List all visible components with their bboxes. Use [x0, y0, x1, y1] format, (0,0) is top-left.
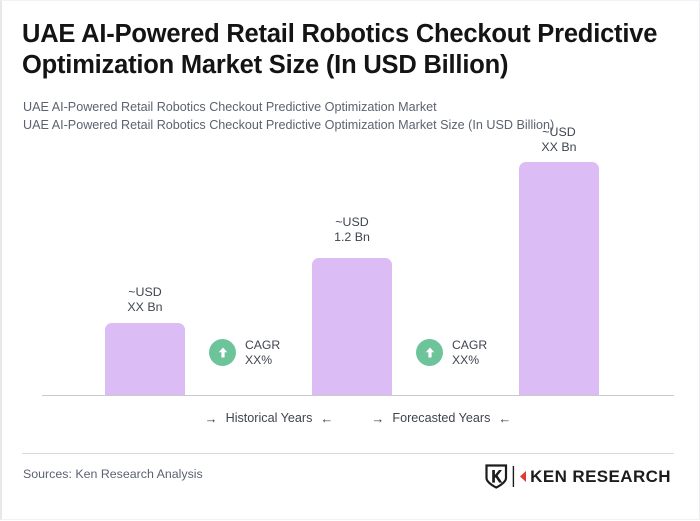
bar-1: [105, 323, 185, 395]
logo-divider-icon: [512, 466, 515, 487]
bar-3: [519, 162, 599, 395]
subtitle-line-2: UAE AI-Powered Retail Robotics Checkout …: [23, 117, 554, 134]
legend-label-forecasted-years: Forecasted Years: [392, 411, 490, 425]
sources-text: Sources: Ken Research Analysis: [23, 467, 203, 481]
logo-wordmark: KEN RESEARCH: [530, 468, 671, 485]
cagr-badge-1-line1: CAGR: [245, 338, 280, 353]
page-title: UAE AI-Powered Retail Robotics Checkout …: [22, 19, 682, 81]
axis-baseline: [42, 395, 674, 396]
cagr-badge-2-line1: CAGR: [452, 338, 487, 353]
cagr-badge-2-line2: XX%: [452, 353, 487, 368]
arrow-left-icon: ←: [320, 412, 333, 425]
bar-value-label-1-line1: ~USD: [105, 285, 185, 300]
ken-research-logo: KEN RESEARCH: [485, 464, 671, 489]
arrow-right-icon: →: [371, 412, 384, 425]
legend-item-historical-years: → Historical Years ←: [205, 411, 334, 425]
cagr-badge-2: CAGR XX%: [416, 338, 487, 367]
bar-value-label-3-line2: XX Bn: [519, 140, 599, 155]
arrow-right-icon: →: [205, 412, 218, 425]
bar-value-label-2-line2: 1.2 Bn: [312, 230, 392, 245]
logo-accent-triangle-icon: [520, 471, 526, 482]
bar-value-label-1-line2: XX Bn: [105, 300, 185, 315]
ken-shield-icon: [485, 464, 508, 489]
cagr-badge-1: CAGR XX%: [209, 338, 280, 367]
bar-value-label-2-line1: ~USD: [312, 215, 392, 230]
bar-value-label-2: ~USD 1.2 Bn: [312, 215, 392, 244]
up-arrow-icon: [209, 339, 236, 366]
legend-item-forecasted-years: → Forecasted Years ←: [371, 411, 511, 425]
bar-value-label-1: ~USD XX Bn: [105, 285, 185, 314]
year-legend: → Historical Years ← → Forecasted Years …: [42, 411, 674, 425]
legend-label-historical-years: Historical Years: [226, 411, 313, 425]
up-arrow-icon: [416, 339, 443, 366]
footer-divider: [22, 453, 674, 454]
bar-2: [312, 258, 392, 395]
arrow-left-icon: ←: [498, 412, 511, 425]
subtitle-line-1: UAE AI-Powered Retail Robotics Checkout …: [23, 99, 437, 116]
cagr-badge-1-text: CAGR XX%: [245, 338, 280, 367]
chart-slide: UAE AI-Powered Retail Robotics Checkout …: [0, 0, 700, 520]
cagr-badge-1-line2: XX%: [245, 353, 280, 368]
cagr-badge-2-text: CAGR XX%: [452, 338, 487, 367]
